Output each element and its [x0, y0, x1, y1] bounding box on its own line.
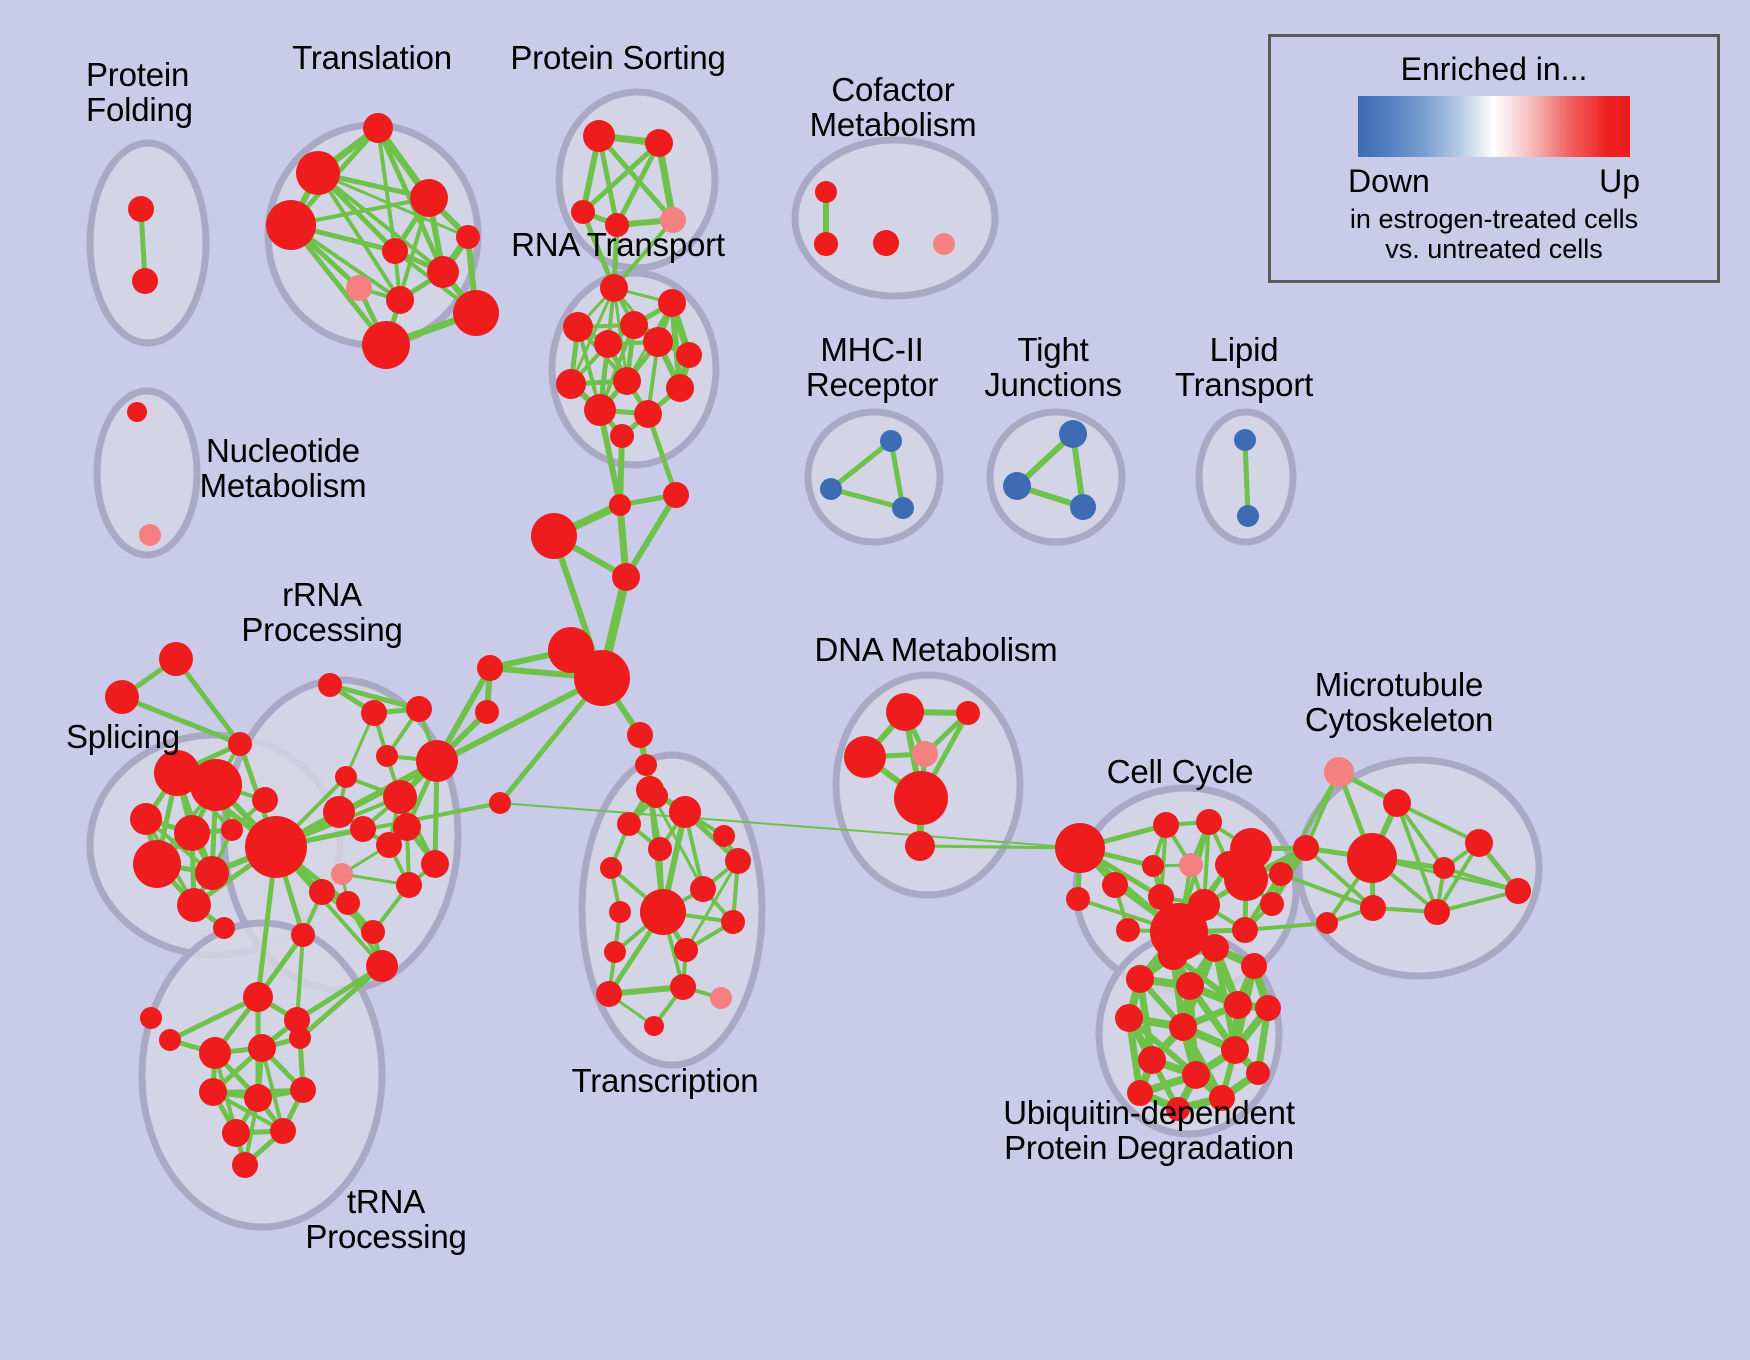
- node-trna-processing[interactable]: [244, 1084, 272, 1112]
- node-rrna-processing[interactable]: [416, 740, 458, 782]
- cluster-label-protein-sorting: Protein Sorting: [510, 41, 725, 76]
- node-microtubule-cytoskeleton[interactable]: [1347, 833, 1397, 883]
- node-microtubule-cytoskeleton[interactable]: [1360, 895, 1386, 921]
- node-microtubule-cytoskeleton[interactable]: [1383, 789, 1411, 817]
- cluster-label-ubiquitin-protein-degradation: Ubiquitin-dependent Protein Degradation: [1003, 1096, 1295, 1166]
- node-microtubule-cytoskeleton[interactable]: [1293, 835, 1319, 861]
- node-cell-cycle[interactable]: [1102, 872, 1128, 898]
- node-cofactor-metabolism[interactable]: [814, 232, 838, 256]
- legend-title: Enriched in...: [1401, 51, 1588, 88]
- node-dna-metabolism[interactable]: [905, 831, 935, 861]
- node-transcription[interactable]: [670, 974, 696, 1000]
- node-cell-cycle[interactable]: [1232, 917, 1258, 943]
- node-mhc-ii-receptor[interactable]: [880, 430, 902, 452]
- node-microtubule-cytoskeleton[interactable]: [1465, 829, 1493, 857]
- node-dna-metabolism[interactable]: [956, 701, 980, 725]
- node-rna-transport[interactable]: [634, 400, 662, 428]
- node-splicing[interactable]: [228, 732, 252, 756]
- node-protein-sorting[interactable]: [645, 129, 673, 157]
- cluster-label-nucleotide-metabolism: Nucleotide Metabolism: [200, 434, 367, 504]
- node-cofactor-metabolism[interactable]: [815, 181, 837, 203]
- node-microtubule-cytoskeleton[interactable]: [1505, 878, 1531, 904]
- node-tight-junctions[interactable]: [1070, 494, 1096, 520]
- node-ubiquitin-protein-degradation[interactable]: [1255, 995, 1281, 1021]
- node-splicing[interactable]: [133, 840, 181, 888]
- node-transcription[interactable]: [617, 812, 641, 836]
- node-dna-metabolism[interactable]: [912, 741, 938, 767]
- node-cofactor-metabolism[interactable]: [933, 233, 955, 255]
- node-transcription[interactable]: [600, 857, 622, 879]
- node-protein-folding[interactable]: [132, 268, 158, 294]
- node-rna-transport[interactable]: [620, 311, 648, 339]
- node-microtubule-cytoskeleton[interactable]: [1424, 899, 1450, 925]
- cluster-label-microtubule-cytoskeleton: Microtubule Cytoskeleton: [1305, 668, 1493, 738]
- node-ubiquitin-protein-degradation[interactable]: [1138, 1046, 1166, 1074]
- legend-caption-line2: vs. untreated cells: [1350, 234, 1638, 264]
- node-transcription[interactable]: [721, 910, 745, 934]
- node-transcription[interactable]: [690, 876, 716, 902]
- node-transcription[interactable]: [648, 837, 672, 861]
- node-hub-l[interactable]: [489, 792, 511, 814]
- node-rrna-processing[interactable]: [336, 891, 360, 915]
- node-translation[interactable]: [456, 225, 480, 249]
- node-translation[interactable]: [453, 290, 499, 336]
- node-trna-processing[interactable]: [248, 1034, 276, 1062]
- legend-down-label: Down: [1348, 163, 1430, 200]
- node-transcription[interactable]: [609, 901, 631, 923]
- node-transcription[interactable]: [674, 938, 698, 962]
- node-rna-transport[interactable]: [584, 394, 616, 426]
- node-hub-h[interactable]: [475, 700, 499, 724]
- node-translation[interactable]: [296, 151, 340, 195]
- node-rrna-processing[interactable]: [376, 745, 398, 767]
- node-rna-transport[interactable]: [556, 369, 586, 399]
- node-ubiquitin-protein-degradation[interactable]: [1158, 940, 1188, 970]
- node-rrna-processing[interactable]: [421, 850, 449, 878]
- enrichment-map-figure: Protein FoldingTranslationProtein Sortin…: [0, 0, 1750, 1360]
- node-splicing[interactable]: [195, 856, 229, 890]
- node-nucleotide-metabolism[interactable]: [139, 524, 161, 546]
- node-transcription[interactable]: [669, 796, 701, 828]
- cluster-label-lipid-transport: Lipid Transport: [1175, 333, 1313, 403]
- node-rrna-processing[interactable]: [335, 766, 357, 788]
- node-tight-junctions[interactable]: [1059, 420, 1087, 448]
- node-rna-transport[interactable]: [666, 374, 694, 402]
- node-protein-sorting[interactable]: [571, 200, 595, 224]
- node-cell-cycle[interactable]: [1215, 851, 1243, 879]
- node-trna-processing[interactable]: [199, 1078, 227, 1106]
- node-rna-transport[interactable]: [613, 367, 641, 395]
- node-trna-processing[interactable]: [270, 1118, 296, 1144]
- node-rna-transport[interactable]: [610, 424, 634, 448]
- node-rna-transport[interactable]: [594, 330, 622, 358]
- node-cell-cycle[interactable]: [1066, 887, 1090, 911]
- edge-inter-cluster: [626, 495, 676, 577]
- node-rna-transport[interactable]: [563, 312, 593, 342]
- node-cell-cycle[interactable]: [1179, 853, 1203, 877]
- node-ubiquitin-protein-degradation[interactable]: [1176, 972, 1204, 1000]
- node-translation[interactable]: [427, 256, 459, 288]
- node-splicing[interactable]: [177, 888, 211, 922]
- legend-panel: Enriched in... Down Up in estrogen-treat…: [1268, 34, 1720, 283]
- legend-caption-line1: in estrogen-treated cells: [1350, 204, 1638, 234]
- cluster-label-tight-junctions: Tight Junctions: [984, 333, 1122, 403]
- node-microtubule-cytoskeleton[interactable]: [1316, 912, 1338, 934]
- node-splicing[interactable]: [174, 815, 210, 851]
- node-cell-cycle[interactable]: [1196, 809, 1222, 835]
- node-trna-processing[interactable]: [199, 1037, 231, 1069]
- legend-endpoints: Down Up: [1348, 163, 1640, 200]
- node-dna-metabolism[interactable]: [844, 736, 886, 778]
- node-hub-j[interactable]: [635, 754, 657, 776]
- node-ubiquitin-protein-degradation[interactable]: [1246, 1061, 1270, 1085]
- cluster-hull-mhc-ii-receptor: [808, 412, 940, 542]
- node-protein-folding[interactable]: [128, 196, 154, 222]
- node-rrna-processing[interactable]: [366, 950, 398, 982]
- node-ubiquitin-protein-degradation[interactable]: [1182, 1061, 1210, 1089]
- node-rna-transport[interactable]: [658, 289, 686, 317]
- node-rrna-processing[interactable]: [309, 879, 335, 905]
- node-rrna-processing[interactable]: [243, 982, 273, 1012]
- node-microtubule-cytoskeleton[interactable]: [1433, 857, 1455, 879]
- cluster-label-rna-transport: RNA Transport: [511, 228, 725, 263]
- node-translation[interactable]: [386, 286, 414, 314]
- node-cell-cycle[interactable]: [1055, 823, 1105, 873]
- cluster-label-translation: Translation: [292, 41, 452, 76]
- node-ubiquitin-protein-degradation[interactable]: [1221, 1036, 1249, 1064]
- cluster-label-mhc-ii-receptor: MHC-II Receptor: [806, 333, 938, 403]
- cluster-label-protein-folding: Protein Folding: [86, 58, 193, 128]
- node-transcription[interactable]: [596, 981, 622, 1007]
- node-cell-cycle[interactable]: [1153, 812, 1179, 838]
- node-cofactor-metabolism[interactable]: [873, 230, 899, 256]
- node-lipid-transport[interactable]: [1234, 429, 1256, 451]
- legend-up-label: Up: [1599, 163, 1640, 200]
- node-rrna-processing[interactable]: [245, 816, 307, 878]
- node-dna-metabolism[interactable]: [886, 693, 924, 731]
- node-rrna-processing[interactable]: [291, 923, 315, 947]
- node-hub-a[interactable]: [609, 494, 631, 516]
- node-lipid-transport[interactable]: [1237, 505, 1259, 527]
- node-rrna-processing[interactable]: [396, 872, 422, 898]
- node-hub-d[interactable]: [612, 563, 640, 591]
- node-rrna-processing[interactable]: [376, 832, 402, 858]
- node-ubiquitin-protein-degradation[interactable]: [1224, 991, 1252, 1019]
- node-rrna-processing[interactable]: [323, 796, 355, 828]
- node-hub-g[interactable]: [477, 655, 503, 681]
- node-rrna-processing[interactable]: [361, 700, 387, 726]
- node-splicing[interactable]: [190, 759, 242, 811]
- node-transcription[interactable]: [713, 825, 735, 847]
- node-transcription[interactable]: [710, 987, 732, 1009]
- node-translation[interactable]: [363, 113, 393, 143]
- node-transcription[interactable]: [644, 1016, 664, 1036]
- node-splicing[interactable]: [130, 803, 162, 835]
- node-splicing[interactable]: [252, 787, 278, 813]
- node-mhc-ii-receptor[interactable]: [820, 478, 842, 500]
- node-hub-c[interactable]: [531, 513, 577, 559]
- cluster-label-transcription: Transcription: [572, 1064, 759, 1099]
- node-rna-transport[interactable]: [676, 342, 702, 368]
- node-rrna-processing[interactable]: [318, 673, 342, 697]
- node-splicing[interactable]: [221, 819, 243, 841]
- node-transcription[interactable]: [604, 941, 626, 963]
- node-ubiquitin-protein-degradation[interactable]: [1201, 934, 1229, 962]
- node-rna-transport[interactable]: [600, 274, 628, 302]
- node-ubiquitin-protein-degradation[interactable]: [1115, 1004, 1143, 1032]
- node-rrna-processing[interactable]: [383, 780, 417, 814]
- node-ubiquitin-protein-degradation[interactable]: [1169, 1013, 1197, 1041]
- node-protein-sorting[interactable]: [583, 120, 615, 152]
- node-rrna-processing[interactable]: [406, 696, 432, 722]
- node-splicing[interactable]: [105, 680, 139, 714]
- cluster-label-trna-processing: tRNA Processing: [305, 1185, 466, 1255]
- node-microtubule-cytoskeleton[interactable]: [1269, 862, 1293, 886]
- node-translation[interactable]: [410, 179, 448, 217]
- node-cell-cycle[interactable]: [1142, 855, 1164, 877]
- node-rna-transport[interactable]: [643, 327, 673, 357]
- cluster-label-splicing: Splicing: [66, 720, 180, 755]
- node-translation[interactable]: [266, 200, 316, 250]
- node-microtubule-cytoskeleton[interactable]: [1324, 757, 1354, 787]
- node-splicing[interactable]: [140, 1007, 162, 1029]
- node-rrna-processing[interactable]: [361, 920, 385, 944]
- node-hub-i[interactable]: [627, 722, 653, 748]
- node-translation[interactable]: [382, 238, 408, 264]
- node-cell-cycle[interactable]: [1260, 892, 1284, 916]
- node-translation[interactable]: [362, 321, 410, 369]
- node-transcription[interactable]: [725, 848, 751, 874]
- node-trna-processing[interactable]: [232, 1152, 258, 1178]
- node-hub-f[interactable]: [574, 650, 630, 706]
- node-dna-metabolism[interactable]: [894, 771, 948, 825]
- node-hub-k[interactable]: [644, 784, 668, 808]
- node-splicing[interactable]: [159, 642, 193, 676]
- node-tight-junctions[interactable]: [1003, 472, 1031, 500]
- node-ubiquitin-protein-degradation[interactable]: [1241, 953, 1267, 979]
- node-trna-processing[interactable]: [222, 1119, 250, 1147]
- node-rrna-processing[interactable]: [331, 863, 353, 885]
- node-rrna-processing[interactable]: [350, 816, 376, 842]
- node-ubiquitin-protein-degradation[interactable]: [1126, 965, 1154, 993]
- node-nucleotide-metabolism[interactable]: [127, 402, 147, 422]
- legend-color-gradient: [1358, 96, 1630, 157]
- node-trna-processing[interactable]: [290, 1077, 316, 1103]
- cluster-label-dna-metabolism: DNA Metabolism: [815, 633, 1058, 668]
- cluster-label-cofactor-metabolism: Cofactor Metabolism: [810, 73, 977, 143]
- legend-caption: in estrogen-treated cells vs. untreated …: [1350, 204, 1638, 264]
- node-trna-processing[interactable]: [159, 1029, 181, 1051]
- node-splicing[interactable]: [213, 917, 235, 939]
- node-translation[interactable]: [346, 275, 372, 301]
- node-trna-processing[interactable]: [289, 1027, 311, 1049]
- node-cell-cycle[interactable]: [1116, 918, 1140, 942]
- cluster-hull-protein-folding: [90, 143, 206, 343]
- node-transcription[interactable]: [640, 889, 686, 935]
- node-mhc-ii-receptor[interactable]: [892, 497, 914, 519]
- cluster-label-rrna-processing: rRNA Processing: [241, 578, 402, 648]
- node-hub-b[interactable]: [663, 482, 689, 508]
- edge-lipid-transport: [1245, 440, 1248, 516]
- cluster-label-cell-cycle: Cell Cycle: [1107, 755, 1254, 790]
